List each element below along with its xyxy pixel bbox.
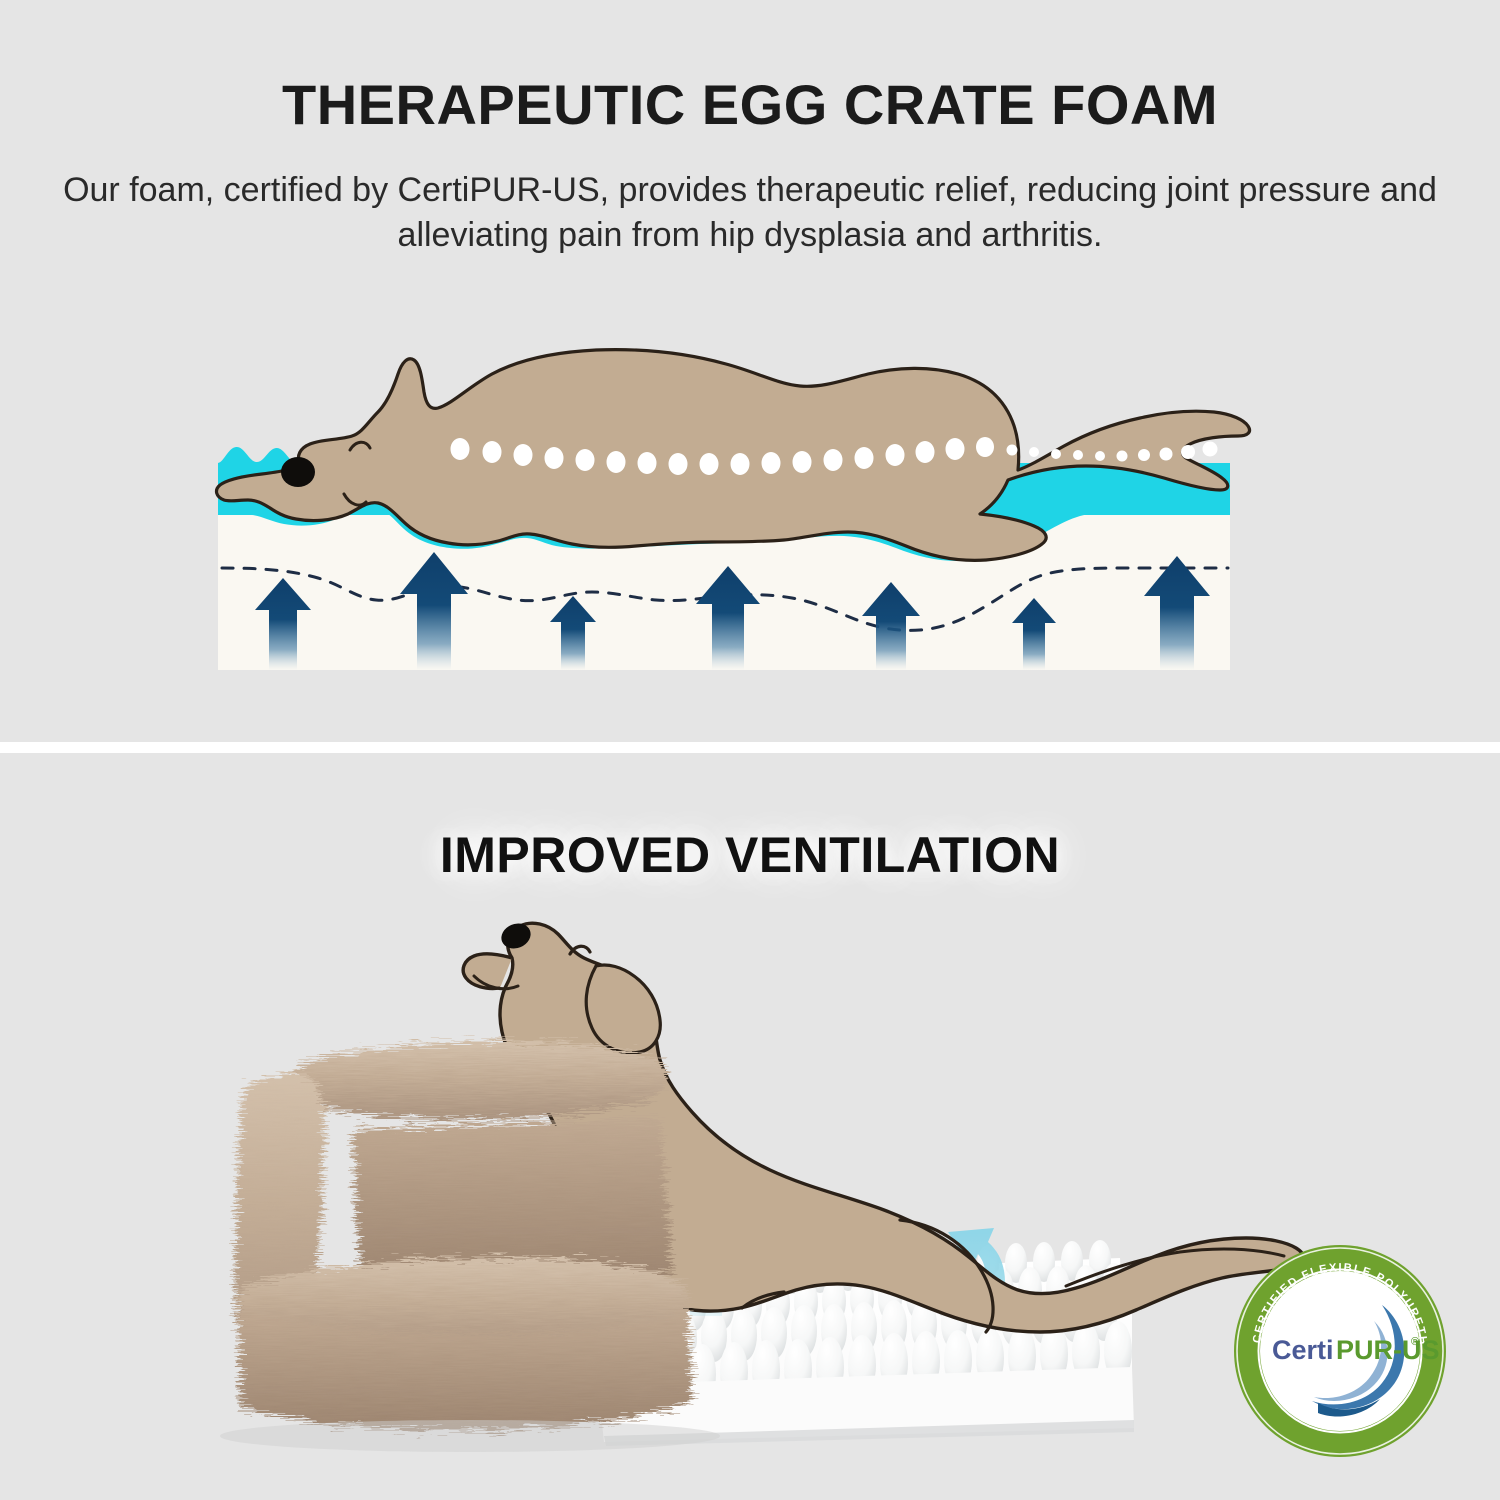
product-infographic: THERAPEUTIC EGG CRATE FOAM Our foam, cer…: [0, 0, 1500, 1500]
section-title-ventilation: IMPROVED VENTILATION: [0, 826, 1500, 884]
badge-registered-mark: ®: [1411, 1336, 1419, 1348]
foam-cross-section-diagram: [0, 330, 1500, 710]
panel-therapeutic-foam: THERAPEUTIC EGG CRATE FOAM Our foam, cer…: [0, 0, 1500, 742]
page-subtitle: Our foam, certified by CertiPUR-US, prov…: [60, 168, 1440, 258]
bed-shadow: [220, 1420, 720, 1452]
badge-logo-certi: Certi: [1272, 1335, 1334, 1365]
certipur-us-badge: CONTAINS CERTIFIED FLEXIBLE POLYURETHANE…: [1232, 1243, 1448, 1459]
panel-divider: [0, 742, 1500, 753]
dog-nose: [281, 457, 315, 487]
page-title: THERAPEUTIC EGG CRATE FOAM: [0, 72, 1500, 137]
badge-logotype: Certi PUR-US ®: [1272, 1335, 1440, 1365]
badge-logo-purus: PUR-US: [1336, 1335, 1440, 1365]
